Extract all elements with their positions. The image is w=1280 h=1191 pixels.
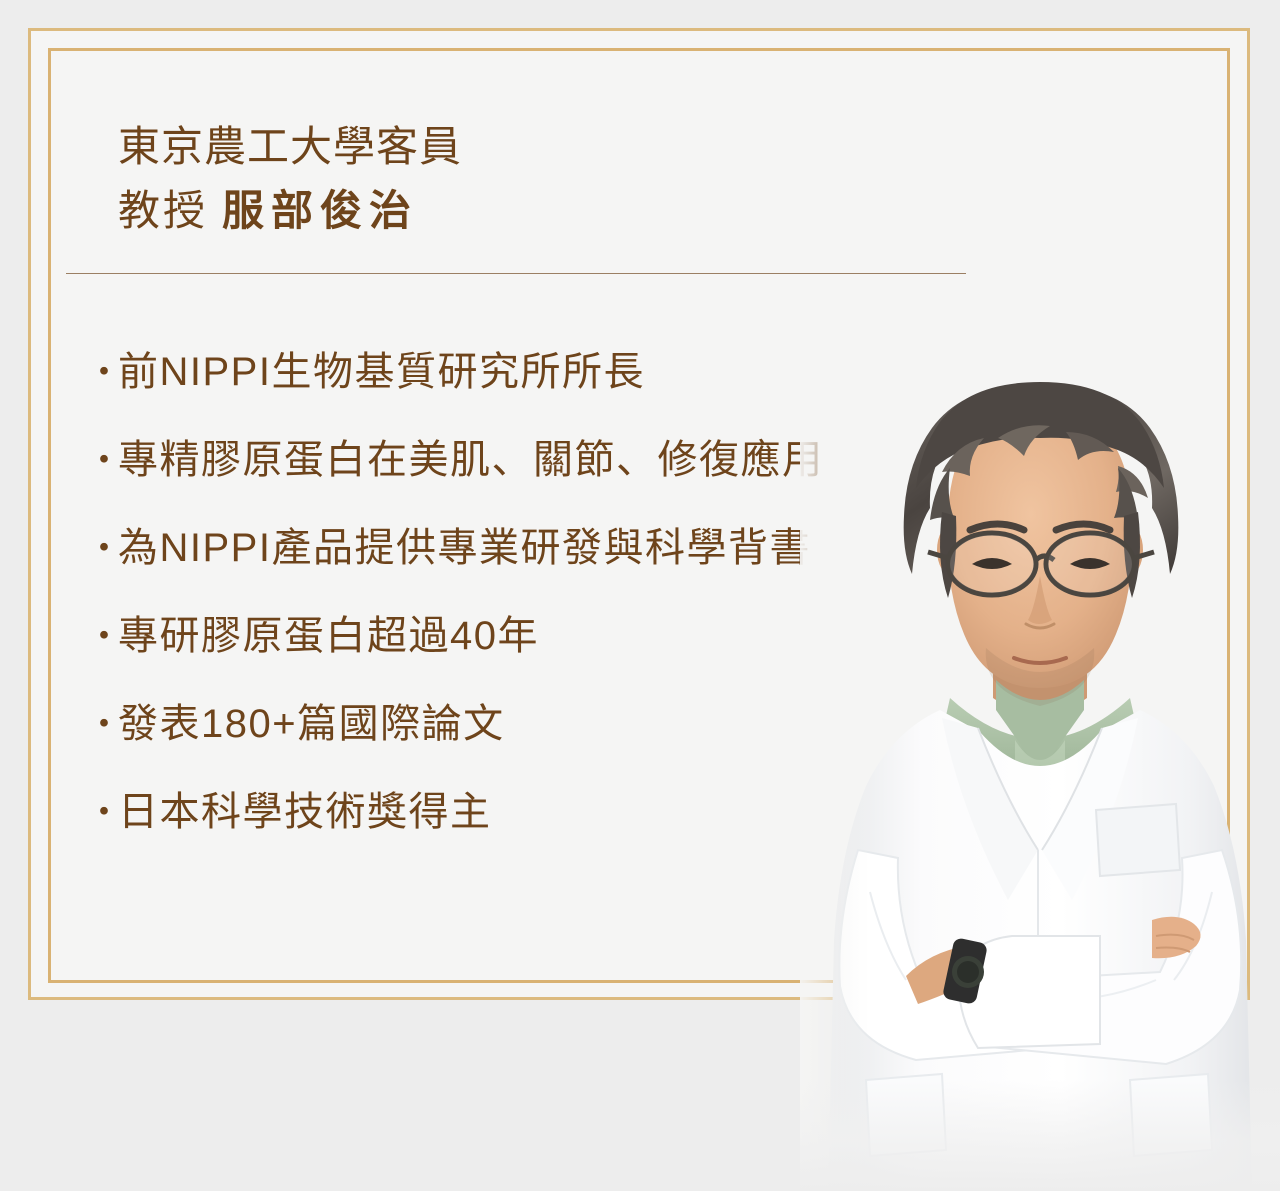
bullet-dot-icon: ・ bbox=[84, 345, 118, 399]
credential-text: 發表180+篇國際論文 bbox=[118, 697, 505, 751]
list-item: ・ 為NIPPI產品提供專業研發與科學背書 bbox=[84, 521, 984, 609]
list-item: ・ 前NIPPI生物基質研究所所長 bbox=[84, 345, 984, 433]
person-name: 服部俊治 bbox=[222, 187, 418, 234]
affiliation-text: 東京農工大學客員 bbox=[118, 118, 1018, 176]
list-item: ・ 日本科學技術獎得主 bbox=[84, 785, 984, 873]
credential-text: 日本科學技術獎得主 bbox=[118, 785, 492, 839]
list-item: ・ 專精膠原蛋白在美肌、關節、修復應用 bbox=[84, 433, 984, 521]
header-divider bbox=[66, 273, 966, 274]
list-item: ・ 專研膠原蛋白超過40年 bbox=[84, 609, 984, 697]
credential-text: 專研膠原蛋白超過40年 bbox=[118, 609, 539, 663]
role-title: 教授 bbox=[118, 187, 208, 234]
list-item: ・ 發表180+篇國際論文 bbox=[84, 697, 984, 785]
name-line: 教授服部俊治 bbox=[118, 182, 1018, 240]
bullet-dot-icon: ・ bbox=[84, 785, 118, 839]
header-block: 東京農工大學客員 教授服部俊治 bbox=[118, 118, 1018, 240]
credential-text: 為NIPPI產品提供專業研發與科學背書 bbox=[118, 521, 811, 575]
content-layer: 東京農工大學客員 教授服部俊治 ・ 前NIPPI生物基質研究所所長 ・ 專精膠原… bbox=[0, 0, 1280, 1191]
credential-text: 專精膠原蛋白在美肌、關節、修復應用 bbox=[118, 433, 824, 487]
bullet-dot-icon: ・ bbox=[84, 697, 118, 751]
bullet-dot-icon: ・ bbox=[84, 609, 118, 663]
poster-canvas: 東京農工大學客員 教授服部俊治 ・ 前NIPPI生物基質研究所所長 ・ 專精膠原… bbox=[0, 0, 1280, 1191]
credentials-list: ・ 前NIPPI生物基質研究所所長 ・ 專精膠原蛋白在美肌、關節、修復應用 ・ … bbox=[84, 345, 984, 873]
credential-text: 前NIPPI生物基質研究所所長 bbox=[118, 345, 645, 399]
bullet-dot-icon: ・ bbox=[84, 433, 118, 487]
bullet-dot-icon: ・ bbox=[84, 521, 118, 575]
